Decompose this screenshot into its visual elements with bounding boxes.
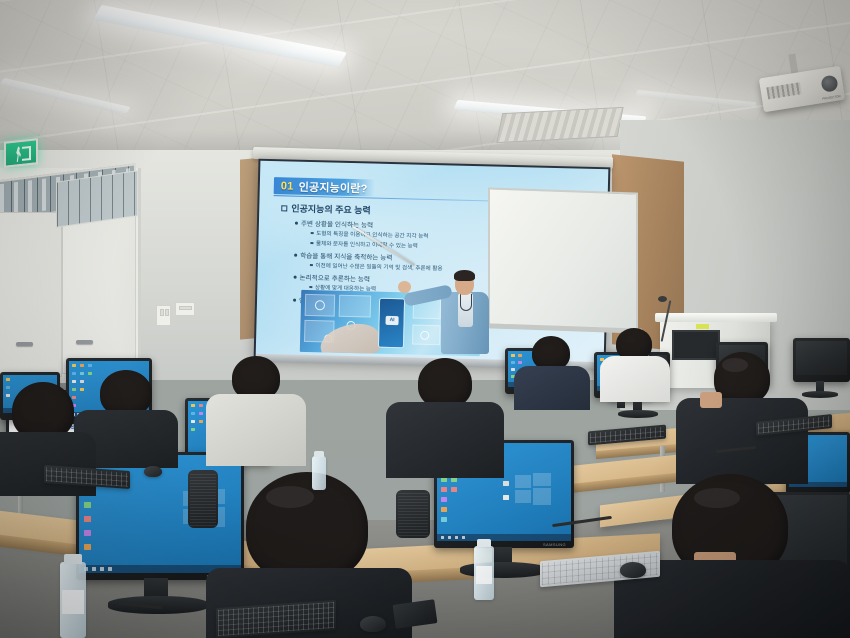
hair-highlight-3 [694, 488, 740, 508]
desktop-icon[interactable] [441, 487, 447, 492]
round-bullet-icon-3 [294, 275, 297, 278]
desktop-icon[interactable] [441, 497, 447, 502]
slide-heading: 인공지능의 주요 능력 [281, 201, 371, 216]
slide-title-text: 인공지능이란? [298, 178, 367, 196]
desktop-icon[interactable] [72, 388, 76, 391]
slide-title-bar: 01 인공지능이란? [274, 177, 375, 196]
student-body-s-8 [676, 398, 808, 484]
desktop-icon[interactable] [84, 544, 91, 550]
desktop-icon[interactable] [511, 354, 515, 357]
taskbar-icon[interactable] [92, 567, 96, 571]
emergency-exit-sign [4, 138, 38, 168]
student-body-s-3 [206, 394, 306, 466]
microphone-icon [658, 296, 667, 302]
desktop-icon[interactable] [80, 364, 84, 367]
student-neck-s-8 [700, 392, 722, 408]
projector-lens-icon [820, 74, 838, 92]
door-leaf-right[interactable] [62, 212, 136, 374]
chair-1 [396, 490, 430, 538]
desktop-icon[interactable] [191, 404, 195, 407]
lectern-top-surface [655, 313, 777, 322]
bottle-label [476, 566, 492, 584]
desktop-icon[interactable] [72, 396, 76, 399]
slide-bullet-3-text: 논리적으로 추론하는 능력 [300, 272, 371, 284]
exit-door-icon [22, 146, 31, 161]
square-bullet-icon [281, 205, 287, 211]
desktop-icon[interactable] [88, 372, 92, 375]
desktop-icon[interactable] [441, 517, 447, 522]
control-panel-plate[interactable] [175, 302, 195, 316]
monitor-ws-9 [793, 338, 850, 382]
light-switch-plate[interactable] [156, 305, 171, 326]
light-switch-button-2[interactable] [165, 309, 169, 316]
taskbar-icon[interactable] [108, 567, 112, 571]
bottle-cap-3[interactable] [314, 451, 324, 457]
student-head-s-6 [532, 336, 570, 370]
round-bullet-icon-4 [293, 298, 296, 301]
square-subbullet-icon [311, 232, 314, 235]
student-body-s-7 [600, 356, 670, 402]
classroom-scene: PROJECTOR 01 인공지능이란? [0, 0, 850, 638]
keyboard-keys[interactable] [46, 467, 128, 487]
keyboard-keys[interactable] [218, 602, 334, 636]
desktop-icon[interactable] [72, 364, 76, 367]
student-head-s-5 [418, 358, 472, 408]
desktop-icon[interactable] [511, 361, 515, 364]
desktop-icon[interactable] [84, 502, 91, 508]
water-bottle-2[interactable] [474, 546, 494, 600]
desktop-icon[interactable] [503, 481, 509, 486]
slide-bullet-1: 주변 상황을 인식하는 능력 [295, 218, 373, 230]
desktop-icon[interactable] [191, 412, 195, 415]
slide-title-number: 01 [281, 180, 294, 192]
taskbar-icon[interactable] [455, 536, 458, 539]
round-bullet-icon-2 [294, 253, 297, 256]
projector-label: PROJECTOR [822, 94, 841, 101]
student-body-s-6 [514, 366, 590, 410]
square-subbullet-icon-3 [310, 264, 313, 267]
water-bottle-3[interactable] [312, 456, 326, 490]
bottle-cap-1[interactable] [64, 554, 82, 564]
instructor-hair [454, 270, 475, 281]
taskbar-icon[interactable] [462, 536, 465, 539]
chair-mesh [190, 472, 216, 526]
monitor-screen [796, 341, 847, 375]
desktop-icon[interactable] [191, 420, 195, 423]
desktop-icon[interactable] [518, 361, 522, 364]
slide-bullet-1-text: 주변 상황을 인식하는 능력 [301, 218, 373, 230]
round-bullet-icon [295, 221, 298, 224]
slide-image-ai-badge: AI [385, 316, 398, 325]
taskbar-icon[interactable] [448, 536, 451, 539]
slide-image-tile-3 [339, 295, 372, 318]
desktop-icon[interactable] [503, 495, 509, 500]
desktop-icon[interactable] [6, 378, 10, 381]
whiteboard [488, 187, 638, 332]
monitor-base-ws-9 [802, 391, 838, 398]
control-panel-button[interactable] [179, 306, 192, 310]
desktop-icon[interactable] [199, 412, 203, 415]
projector-vent [766, 82, 801, 99]
desktop-icon[interactable] [80, 380, 84, 383]
mouse-2[interactable] [360, 616, 386, 632]
desktop-icon[interactable] [6, 394, 10, 397]
mouse-1[interactable] [620, 562, 646, 578]
student-body-s-1 [0, 432, 96, 496]
desktop-icon[interactable] [72, 380, 76, 383]
light-switch-button[interactable] [160, 309, 164, 316]
chair-2 [188, 470, 218, 528]
student-body-s-5 [386, 402, 504, 478]
desktop-icon[interactable] [84, 530, 91, 536]
desktop-icon[interactable] [191, 428, 195, 431]
desktop-icon[interactable] [199, 404, 203, 407]
desktop-icon[interactable] [451, 487, 457, 492]
monitor-brand-label: SAMSUNG [543, 542, 566, 547]
chair-mesh [398, 492, 428, 536]
instructor-hand [398, 281, 411, 293]
desktop-icon[interactable] [6, 386, 10, 389]
door-leaf-left[interactable] [0, 212, 62, 377]
desktop-icon[interactable] [88, 364, 92, 367]
desktop-icon[interactable] [80, 372, 84, 375]
desktop-icon[interactable] [511, 368, 515, 371]
taskbar-start-icon[interactable] [441, 536, 444, 539]
water-bottle-1[interactable] [60, 562, 86, 638]
desktop-icon[interactable] [441, 507, 447, 512]
bottle-label [62, 590, 84, 614]
door-handle-icon[interactable] [16, 342, 33, 346]
windows-logo-icon [515, 473, 551, 505]
sticky-note [696, 324, 709, 329]
monitor-base-ws-4 [460, 562, 546, 578]
desktop-icon[interactable] [84, 516, 91, 522]
bottle-cap-2[interactable] [477, 539, 491, 547]
desktop-icon[interactable] [80, 388, 84, 391]
square-subbullet-icon-4 [309, 286, 312, 289]
running-person-icon [15, 146, 22, 163]
monitor-base-ws-11 [618, 410, 658, 418]
mouse-3[interactable] [144, 466, 162, 477]
hair-highlight [722, 358, 748, 372]
desktop-icon[interactable] [199, 420, 203, 423]
slide-bullet-3: 논리적으로 추론하는 능력 [294, 272, 371, 284]
desktop-icon[interactable] [518, 354, 522, 357]
desktop-icon[interactable] [72, 372, 76, 375]
slide-heading-text: 인공지능의 주요 능력 [291, 202, 371, 217]
door-handle-icon-2[interactable] [76, 340, 93, 344]
taskbar-icon[interactable] [100, 567, 104, 571]
square-subbullet-icon-2 [310, 242, 313, 245]
hair-highlight-2 [266, 486, 314, 508]
lectern-monitor [672, 330, 720, 360]
instructor-lanyard [460, 294, 472, 311]
